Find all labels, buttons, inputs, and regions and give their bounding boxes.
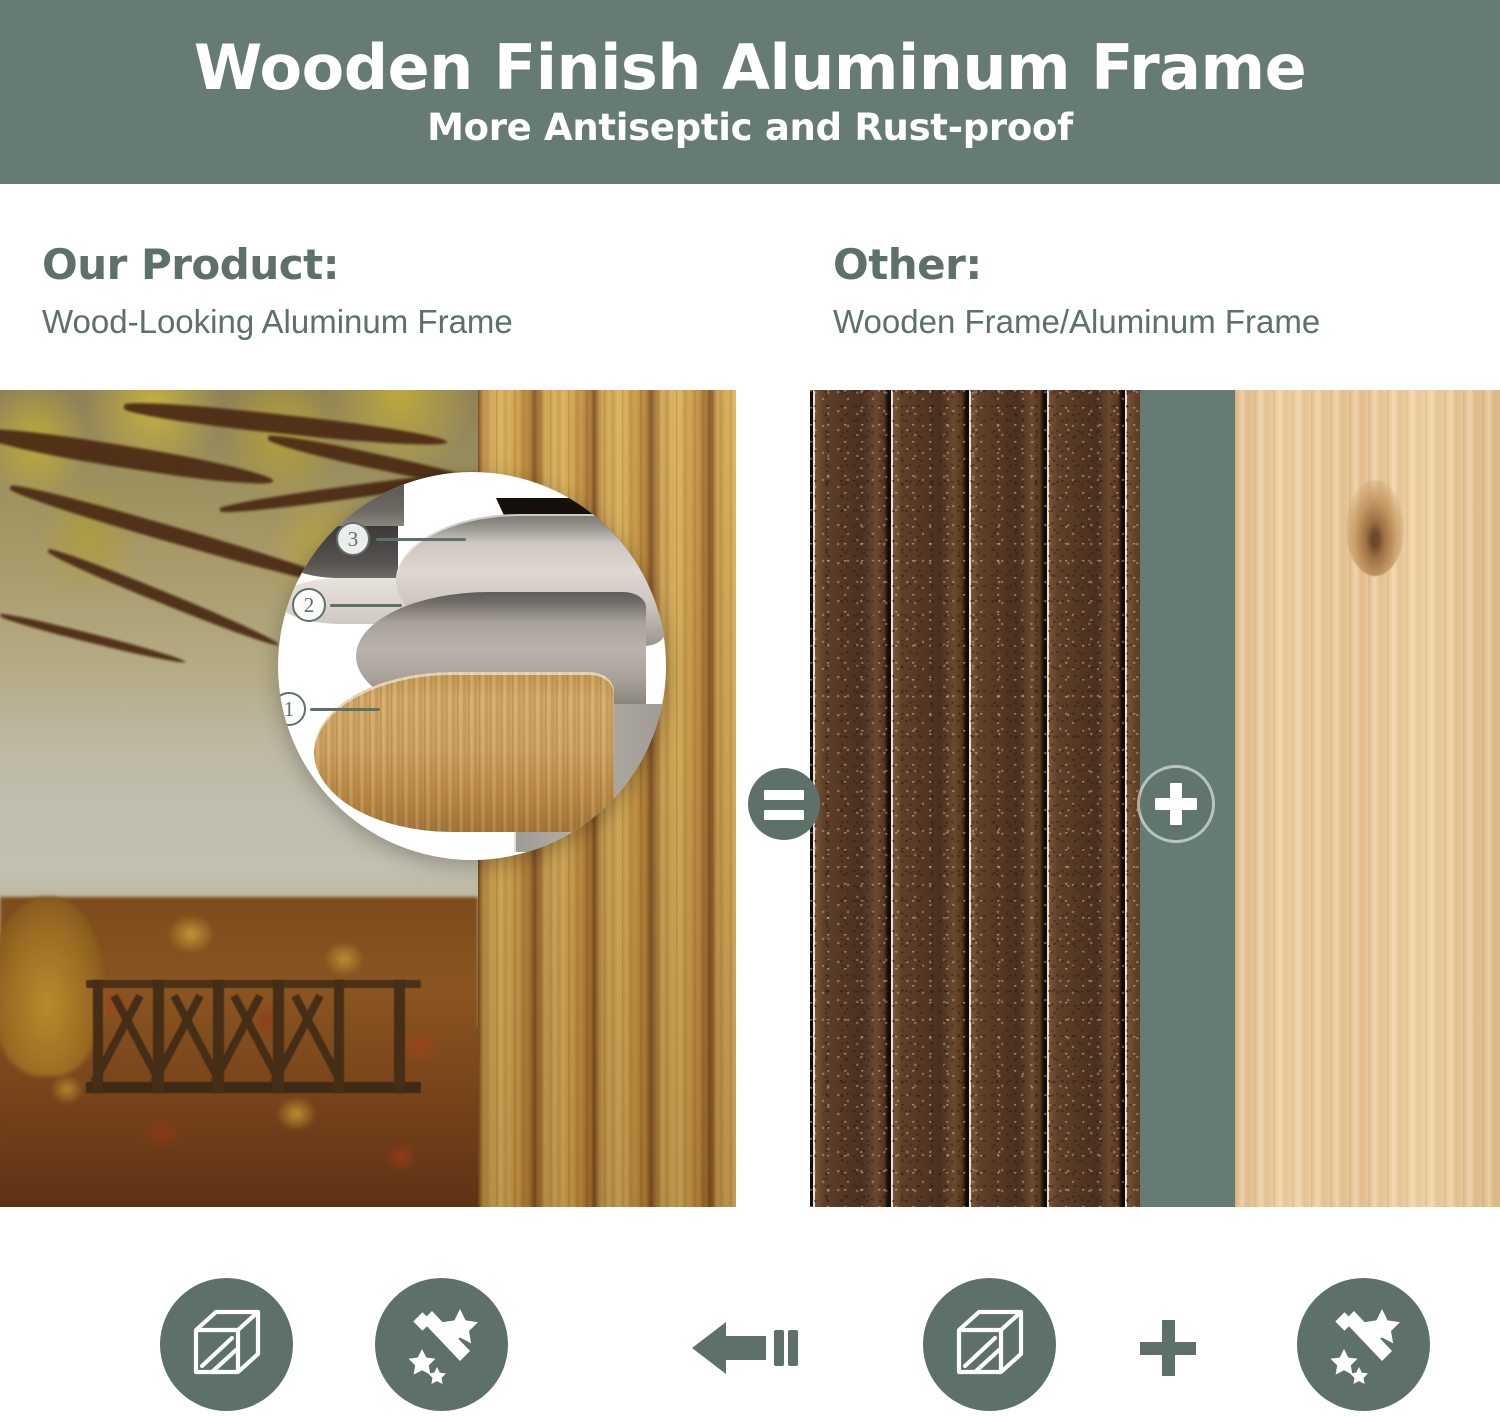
leader-line-2 (330, 604, 402, 607)
frame-profile-icon (923, 1278, 1056, 1411)
magic-wand-icon (375, 1278, 508, 1411)
callout-marker-2: 2 (292, 588, 326, 622)
callout-marker-3: 3 (336, 522, 370, 556)
left-column-heading-group: Our Product: Wood-Looking Aluminum Frame (42, 240, 513, 341)
wooden-bridge (86, 970, 421, 1093)
bottom-icon-strip (0, 1270, 1500, 1418)
layer-cutaway-callout: 3 2 1 (278, 472, 666, 860)
plus-horizontal (1140, 1342, 1196, 1355)
wood-grain-painting-layer (314, 672, 614, 832)
leader-line-1 (310, 708, 380, 711)
other-heading: Other: (833, 240, 1320, 289)
callout-marker-1: 1 (278, 692, 306, 726)
our-product-subheading: Wood-Looking Aluminum Frame (42, 303, 513, 341)
bridge-deck (86, 1082, 421, 1093)
right-column-heading-group: Other: Wooden Frame/Aluminum Frame (833, 240, 1320, 341)
equals-badge (748, 768, 820, 840)
header-band: Wooden Finish Aluminum Frame More Antise… (0, 0, 1500, 184)
page-subtitle: More Antiseptic and Rust-proof (427, 106, 1073, 149)
equals-bar-bottom (764, 810, 804, 820)
frame-profile-icon (160, 1278, 293, 1411)
plus-icon (1140, 1320, 1196, 1376)
other-subheading: Wooden Frame/Aluminum Frame (833, 303, 1320, 341)
our-product-heading: Our Product: (42, 240, 513, 289)
wooden-frame-sample (1235, 390, 1500, 1207)
brown-aluminum-frame-sample (810, 390, 1140, 1207)
aluminum-frame-edge (278, 472, 404, 526)
plus-horizontal (1155, 798, 1197, 810)
wood-knot (1346, 480, 1404, 576)
bridge-rail (86, 980, 421, 989)
bridge-post (394, 980, 405, 1093)
left-arrow-icon (692, 1322, 802, 1374)
page-title: Wooden Finish Aluminum Frame (194, 35, 1306, 101)
cutaway-illustration: 3 2 1 (278, 472, 666, 860)
magic-wand-icon (1297, 1278, 1430, 1411)
plus-badge (1140, 768, 1212, 840)
leader-line-3 (376, 538, 466, 541)
equals-bar-top (764, 790, 804, 800)
